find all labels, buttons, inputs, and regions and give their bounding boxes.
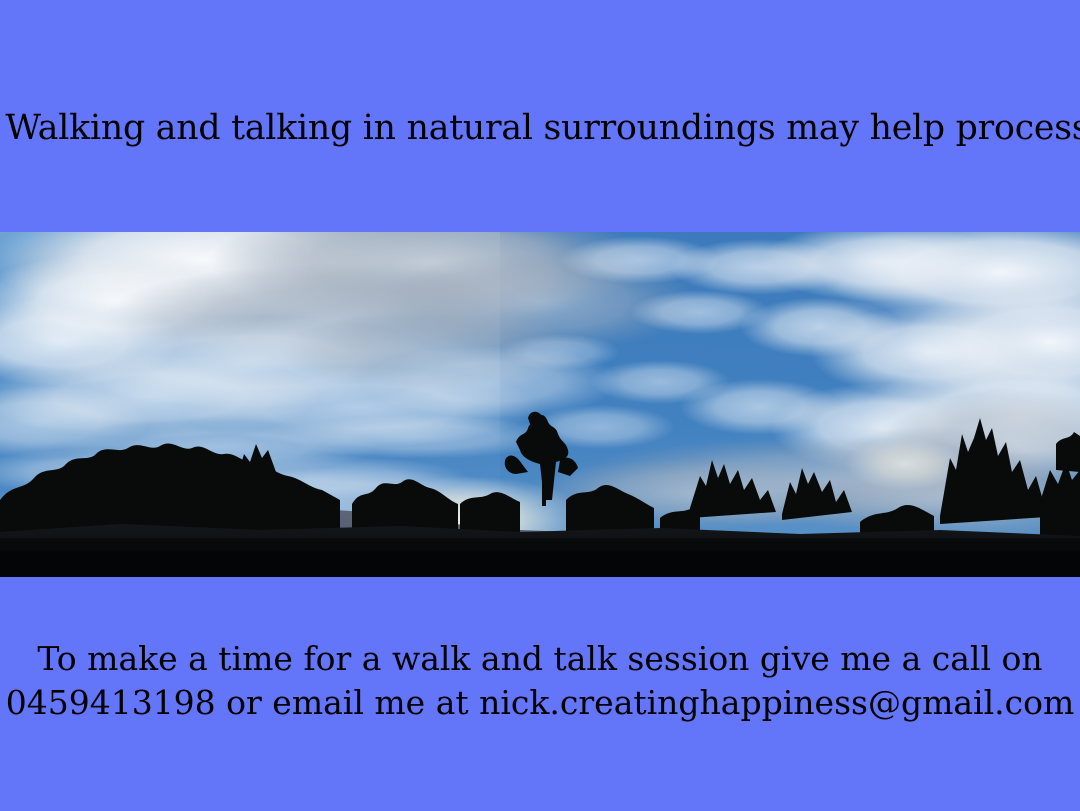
contact-line-2: 0459413198 or email me at nick.creatingh… <box>0 681 1080 725</box>
page-title: Walking and talking in natural surroundi… <box>5 106 1074 150</box>
poster-canvas: Walking and talking in natural surroundi… <box>0 0 1080 811</box>
contact-line-1: To make a time for a walk and talk sessi… <box>0 637 1080 681</box>
contact-copy: To make a time for a walk and talk sessi… <box>0 637 1080 725</box>
landscape-illustration <box>0 232 1080 577</box>
panoramic-landscape-photo <box>0 232 1080 577</box>
